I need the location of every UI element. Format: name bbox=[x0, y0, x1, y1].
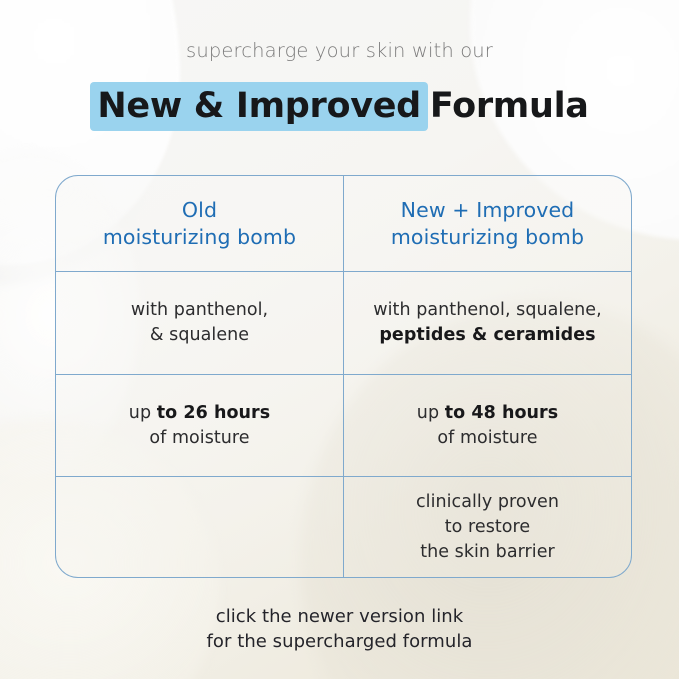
table-header-old-text: Old moisturizing bomb bbox=[103, 197, 296, 251]
table-header-old: Old moisturizing bomb bbox=[56, 176, 343, 271]
footer-call-to-action: click the newer version link for the sup… bbox=[0, 605, 679, 654]
table-row-header: Old moisturizing bomb New + Improved moi… bbox=[56, 176, 631, 271]
cell-ingredients-new: with panthenol, squalene, peptides & cer… bbox=[343, 272, 631, 374]
headline-highlight: New & Improved bbox=[90, 82, 428, 131]
table-row-clinical: clinically proven to restore the skin ba… bbox=[56, 476, 631, 577]
ingredients-old-line2: & squalene bbox=[150, 325, 249, 345]
cell-ingredients-new-text: with panthenol, squalene, peptides & cer… bbox=[373, 298, 601, 348]
header-new-line2: moisturizing bomb bbox=[391, 225, 584, 249]
cell-clinical-new-text: clinically proven to restore the skin ba… bbox=[416, 490, 559, 565]
cell-clinical-old bbox=[56, 477, 343, 577]
cell-clinical-new: clinically proven to restore the skin ba… bbox=[343, 477, 631, 577]
ingredients-new-line2-bold: peptides & ceramides bbox=[379, 325, 595, 345]
header-new-line1: New + Improved bbox=[401, 198, 575, 222]
cell-hydration-old: up to 26 hours of moisture bbox=[56, 375, 343, 476]
header-old-line2: moisturizing bomb bbox=[103, 225, 296, 249]
ingredients-old-line1: with panthenol, bbox=[131, 300, 268, 320]
promo-poster: supercharge your skin with our New & Imp… bbox=[0, 0, 679, 679]
cell-hydration-new-text: up to 48 hours of moisture bbox=[417, 401, 558, 451]
cell-hydration-new: up to 48 hours of moisture bbox=[343, 375, 631, 476]
hydration-new-prefix: up bbox=[417, 403, 445, 423]
table-header-new: New + Improved moisturizing bomb bbox=[343, 176, 631, 271]
clinical-new-line3: the skin barrier bbox=[420, 542, 555, 562]
table-row-ingredients: with panthenol, & squalene with pantheno… bbox=[56, 271, 631, 374]
hydration-new-line2: of moisture bbox=[437, 428, 537, 448]
hydration-old-prefix: up bbox=[129, 403, 157, 423]
ingredients-new-line1: with panthenol, squalene, bbox=[373, 300, 601, 320]
poster-content: supercharge your skin with our New & Imp… bbox=[0, 0, 679, 679]
header-old-line1: Old bbox=[182, 198, 217, 222]
hydration-new-bold: to 48 hours bbox=[445, 403, 558, 423]
cell-ingredients-old-text: with panthenol, & squalene bbox=[131, 298, 268, 348]
comparison-table: Old moisturizing bomb New + Improved moi… bbox=[55, 175, 632, 578]
footer-line-2: for the supercharged formula bbox=[207, 631, 473, 652]
cell-ingredients-old: with panthenol, & squalene bbox=[56, 272, 343, 374]
footer-line-1: click the newer version link bbox=[216, 606, 464, 627]
page-title: New & ImprovedFormula bbox=[0, 86, 679, 126]
hydration-old-line2: of moisture bbox=[149, 428, 249, 448]
hydration-old-bold: to 26 hours bbox=[157, 403, 270, 423]
eyebrow-text: supercharge your skin with our bbox=[0, 39, 679, 62]
clinical-new-line2: to restore bbox=[445, 517, 530, 537]
table-row-hydration: up to 26 hours of moisture up to 48 hour… bbox=[56, 374, 631, 476]
cell-hydration-old-text: up to 26 hours of moisture bbox=[129, 401, 270, 451]
clinical-new-line1: clinically proven bbox=[416, 492, 559, 512]
table-header-new-text: New + Improved moisturizing bomb bbox=[391, 197, 584, 251]
headline-plain: Formula bbox=[430, 86, 589, 126]
